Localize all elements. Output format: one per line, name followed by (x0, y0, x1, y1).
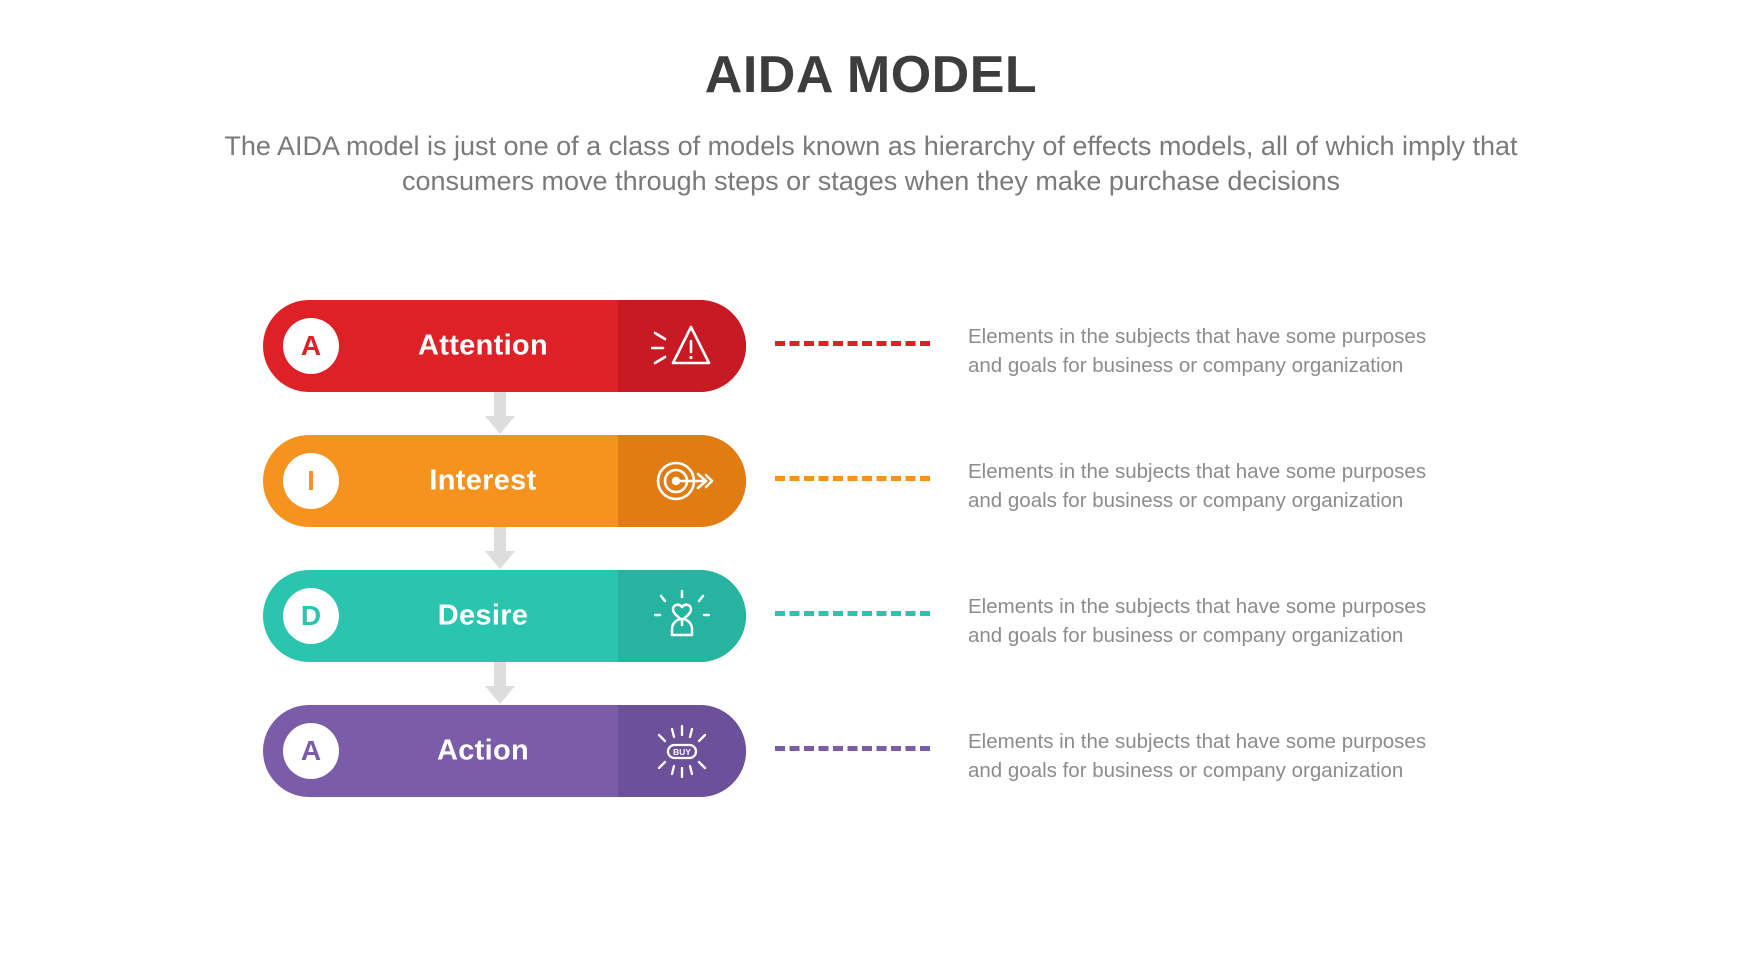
flow-arrow-down (483, 662, 517, 706)
subtitle-line-1: The AIDA model is just one of a class of… (224, 131, 1394, 161)
step-letter: A (301, 330, 321, 362)
step-description-line-1: Elements in the subjects that have some … (968, 457, 1508, 486)
step-description-line-2: and goals for business or company organi… (968, 756, 1508, 785)
step-description-line-2: and goals for business or company organi… (968, 486, 1508, 515)
step-letter: D (301, 600, 321, 632)
step-letter: I (307, 465, 315, 497)
step-letter-badge: A (283, 318, 339, 374)
page-subtitle: The AIDA model is just one of a class of… (91, 129, 1651, 200)
flow-arrow-down (483, 527, 517, 571)
step-bar-desire[interactable]: D Desire (263, 570, 746, 662)
step-row-attention: A Attention (0, 300, 1742, 435)
connector-dashed-line (775, 341, 930, 346)
page-title: AIDA Model (0, 48, 1742, 103)
step-description: Elements in the subjects that have some … (968, 457, 1508, 515)
header: AIDA Model The AIDA model is just one of… (0, 48, 1742, 200)
step-description-line-1: Elements in the subjects that have some … (968, 322, 1508, 351)
step-letter: A (301, 735, 321, 767)
warning-triangle-icon (618, 300, 746, 392)
step-description-line-1: Elements in the subjects that have some … (968, 592, 1508, 621)
step-bar-action[interactable]: A Action BUY (263, 705, 746, 797)
step-label: Action (349, 735, 617, 768)
heart-person-idea-icon (618, 570, 746, 662)
step-description: Elements in the subjects that have some … (968, 322, 1508, 380)
connector-dashed-line (775, 476, 930, 481)
step-bar-attention[interactable]: A Attention (263, 300, 746, 392)
step-description: Elements in the subjects that have some … (968, 727, 1508, 785)
step-row-interest: I Interest (0, 435, 1742, 570)
step-letter-badge: A (283, 723, 339, 779)
step-bar-interest[interactable]: I Interest (263, 435, 746, 527)
svg-text:BUY: BUY (673, 747, 691, 757)
target-arrow-icon (618, 435, 746, 527)
step-letter-badge: D (283, 588, 339, 644)
step-row-desire: D Desire (0, 570, 1742, 705)
step-description-line-1: Elements in the subjects that have some … (968, 727, 1508, 756)
flow-arrow-down (483, 392, 517, 436)
connector-dashed-line (775, 611, 930, 616)
step-row-action: A Action BUY (0, 705, 1742, 840)
step-letter-badge: I (283, 453, 339, 509)
connector-dashed-line (775, 746, 930, 751)
steps-list: A Attention (0, 300, 1742, 840)
buy-button-icon: BUY (618, 705, 746, 797)
step-description: Elements in the subjects that have some … (968, 592, 1508, 650)
step-label: Attention (349, 330, 617, 363)
step-description-line-2: and goals for business or company organi… (968, 351, 1508, 380)
infographic-canvas: AIDA Model The AIDA model is just one of… (0, 0, 1742, 980)
step-label: Interest (349, 465, 617, 498)
step-label: Desire (349, 600, 617, 633)
step-description-line-2: and goals for business or company organi… (968, 621, 1508, 650)
